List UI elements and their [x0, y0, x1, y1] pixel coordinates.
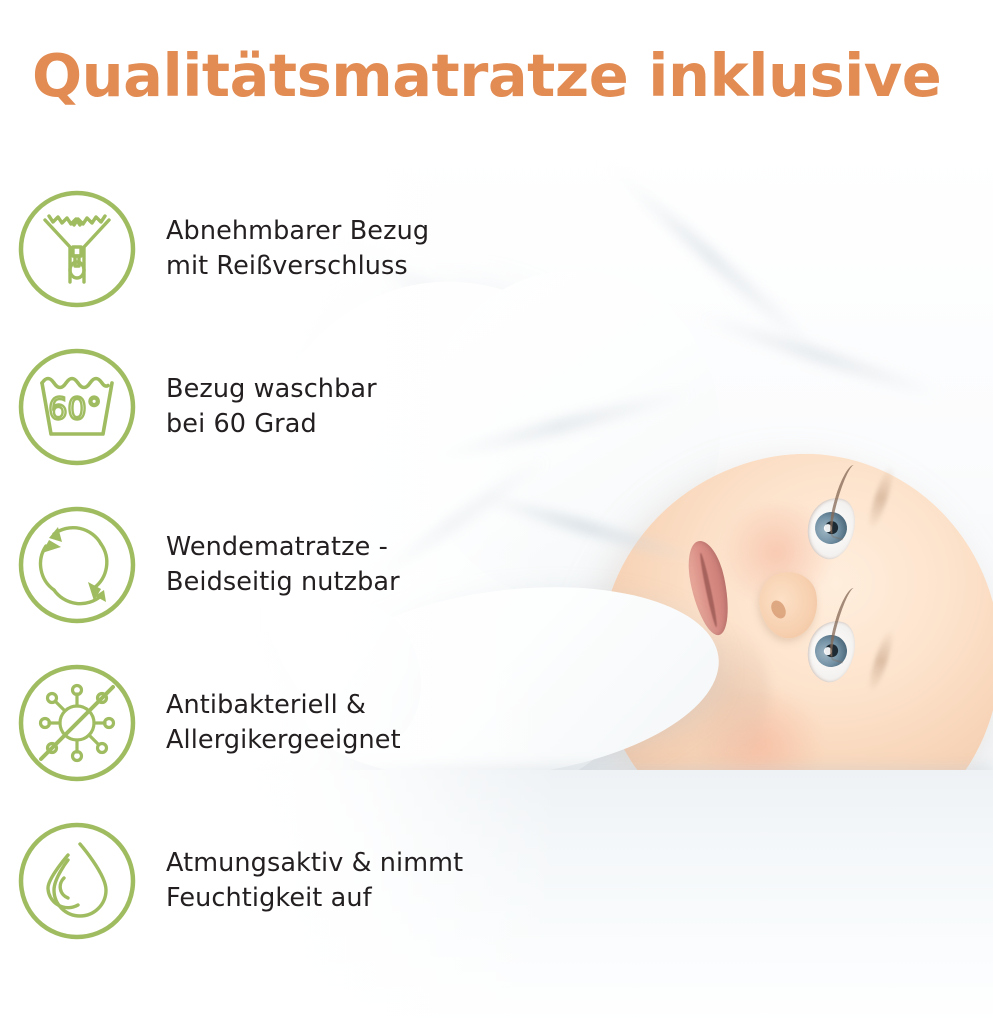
feature-line-1: Abnehmbarer Bezug [166, 214, 429, 249]
feature-label: Antibakteriell & Allergikergeeignet [166, 688, 401, 758]
wash-temperature-label: 60° [48, 392, 101, 427]
feature-item-breathable: Atmungsaktiv & nimmt Feuchtigkeit auf [0, 802, 620, 960]
feature-label: Abnehmbarer Bezug mit Reißverschluss [166, 214, 429, 284]
feature-line-2: bei 60 Grad [166, 407, 377, 442]
feature-line-2: Beidseitig nutzbar [166, 565, 400, 600]
feature-list: Abnehmbarer Bezug mit Reißverschluss 60°… [0, 170, 620, 960]
feature-label: Wendematratze - Beidseitig nutzbar [166, 530, 400, 600]
feature-label: Atmungsaktiv & nimmt Feuchtigkeit auf [166, 846, 463, 916]
feature-item-antibacterial: Antibakteriell & Allergikergeeignet [0, 644, 620, 802]
feature-line-1: Antibakteriell & [166, 688, 401, 723]
page-title: Qualitätsmatratze inklusive [32, 44, 941, 108]
feature-line-1: Bezug waschbar [166, 372, 377, 407]
feature-item-reversible-mattress: Wendematratze - Beidseitig nutzbar [0, 486, 620, 644]
feature-line-2: mit Reißverschluss [166, 249, 429, 284]
feature-item-removable-cover: Abnehmbarer Bezug mit Reißverschluss [0, 170, 620, 328]
promo-graphic: Qualitätsmatratze inklusive [0, 0, 993, 1024]
feature-item-washable-60: 60° Bezug waschbar bei 60 Grad [0, 328, 620, 486]
antibacterial-no-germs-icon [18, 664, 136, 782]
feature-line-2: Allergikergeeignet [166, 723, 401, 758]
water-droplet-icon [18, 822, 136, 940]
feature-line-2: Feuchtigkeit auf [166, 881, 463, 916]
wash-60-degrees-icon: 60° [18, 348, 136, 466]
feature-label: Bezug waschbar bei 60 Grad [166, 372, 377, 442]
zipper-icon [18, 190, 136, 308]
feature-line-1: Wendematratze - [166, 530, 400, 565]
feature-line-1: Atmungsaktiv & nimmt [166, 846, 463, 881]
reversible-arrows-icon [18, 506, 136, 624]
